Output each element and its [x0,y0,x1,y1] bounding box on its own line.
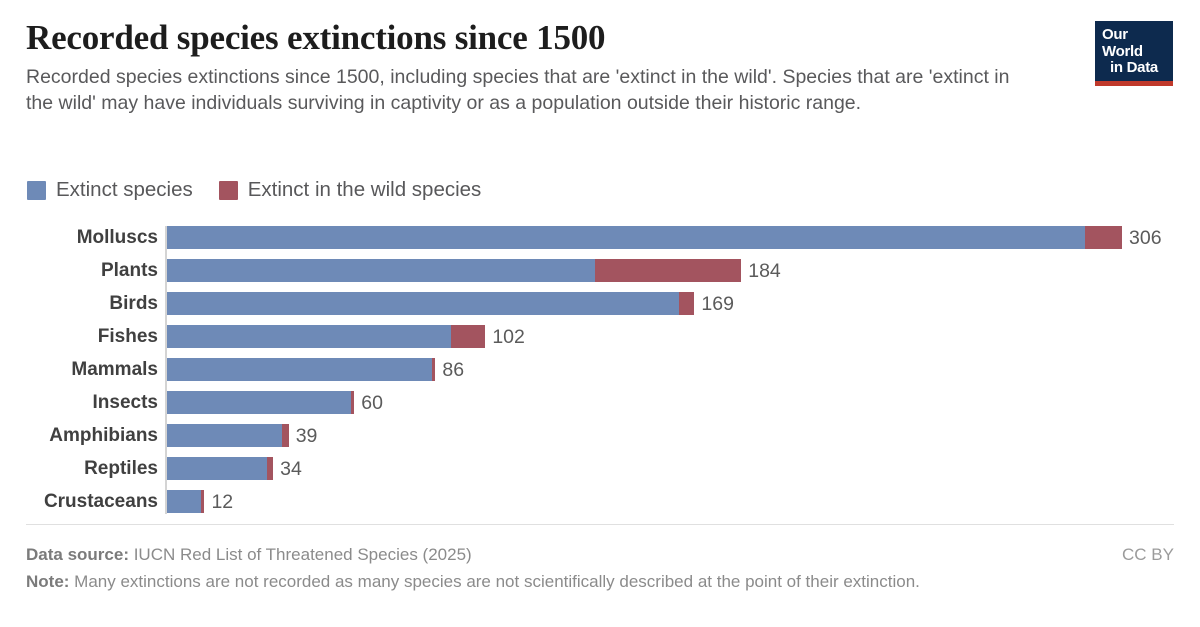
bar-value-label: 12 [211,490,233,514]
bar-row[interactable]: Reptiles34 [0,457,1200,480]
bar-segment-extinct-in-the-wild-species[interactable] [351,391,354,414]
bar-row[interactable]: Insects60 [0,391,1200,414]
bar-category-label: Insects [0,391,158,414]
bar-row[interactable]: Plants184 [0,259,1200,282]
note-label: Note: [26,572,69,591]
bar-category-label: Molluscs [0,226,158,249]
bar-value-label: 102 [492,325,525,349]
chart-subtitle: Recorded species extinctions since 1500,… [26,65,1036,116]
bar-value-label: 306 [1129,226,1162,250]
data-source-row: Data source: IUCN Red List of Threatened… [26,541,1174,568]
data-source-label: Data source: [26,545,129,564]
bar-value-label: 39 [296,424,318,448]
bar-segment-extinct-in-the-wild-species[interactable] [432,358,435,381]
bar-stack[interactable] [167,292,694,315]
bar-segment-extinct-in-the-wild-species[interactable] [267,457,273,480]
bar-segment-extinct-in-the-wild-species[interactable] [1085,226,1122,249]
bar-value-label: 86 [442,358,464,382]
bar-row[interactable]: Amphibians39 [0,424,1200,447]
bar-category-label: Mammals [0,358,158,381]
bar-stack[interactable] [167,358,435,381]
legend-label: Extinct species [56,180,193,200]
bar-stack[interactable] [167,424,289,447]
logo-line-2: in Data [1102,60,1166,77]
bar-segment-extinct-in-the-wild-species[interactable] [282,424,288,447]
chart-footer: Data source: IUCN Red List of Threatened… [26,524,1174,595]
bar-stack[interactable] [167,226,1122,249]
bar-value-label: 34 [280,457,302,481]
bar-chart: Molluscs306Plants184Birds169Fishes102Mam… [0,222,1200,518]
bar-value-label: 60 [361,391,383,415]
bar-segment-extinct-species[interactable] [167,325,451,348]
bar-segment-extinct-species[interactable] [167,292,679,315]
bar-segment-extinct-species[interactable] [167,391,351,414]
note-value: Many extinctions are not recorded as man… [69,572,919,591]
bar-row[interactable]: Fishes102 [0,325,1200,348]
bar-category-label: Reptiles [0,457,158,480]
page-title: Recorded species extinctions since 1500 [26,18,1066,58]
data-source-value: IUCN Red List of Threatened Species (202… [129,545,472,564]
bar-stack[interactable] [167,490,204,513]
bar-category-label: Crustaceans [0,490,158,513]
bar-segment-extinct-species[interactable] [167,358,432,381]
bar-row[interactable]: Birds169 [0,292,1200,315]
legend-label: Extinct in the wild species [248,180,482,200]
license-label: CC BY [1122,541,1174,568]
legend-swatch-icon [27,181,46,200]
note-row: Note: Many extinctions are not recorded … [26,568,1174,595]
legend-swatch-icon [219,181,238,200]
bar-stack[interactable] [167,259,741,282]
bar-segment-extinct-in-the-wild-species[interactable] [595,259,742,282]
bar-value-label: 184 [748,259,781,283]
bar-row[interactable]: Molluscs306 [0,226,1200,249]
bar-segment-extinct-in-the-wild-species[interactable] [679,292,695,315]
bar-value-label: 169 [701,292,734,316]
bar-segment-extinct-species[interactable] [167,424,282,447]
bar-row[interactable]: Crustaceans12 [0,490,1200,513]
bar-segment-extinct-species[interactable] [167,490,201,513]
legend-item-extinct-species[interactable]: Extinct species [27,180,193,200]
bar-segment-extinct-in-the-wild-species[interactable] [451,325,485,348]
bar-stack[interactable] [167,325,485,348]
bar-segment-extinct-in-the-wild-species[interactable] [201,490,204,513]
chart-page: Recorded species extinctions since 1500 … [0,0,1200,627]
chart-header: Recorded species extinctions since 1500 … [26,18,1066,116]
logo-line-1: Our World [1102,27,1166,60]
bar-stack[interactable] [167,391,354,414]
bar-category-label: Birds [0,292,158,315]
chart-legend: Extinct species Extinct in the wild spec… [27,180,481,200]
bar-category-label: Fishes [0,325,158,348]
bar-segment-extinct-species[interactable] [167,259,595,282]
bar-category-label: Plants [0,259,158,282]
bar-row[interactable]: Mammals86 [0,358,1200,381]
bar-segment-extinct-species[interactable] [167,226,1085,249]
bar-segment-extinct-species[interactable] [167,457,267,480]
bar-category-label: Amphibians [0,424,158,447]
bar-stack[interactable] [167,457,273,480]
legend-item-extinct-in-the-wild-species[interactable]: Extinct in the wild species [219,180,482,200]
owid-logo[interactable]: Our World in Data [1095,21,1173,86]
